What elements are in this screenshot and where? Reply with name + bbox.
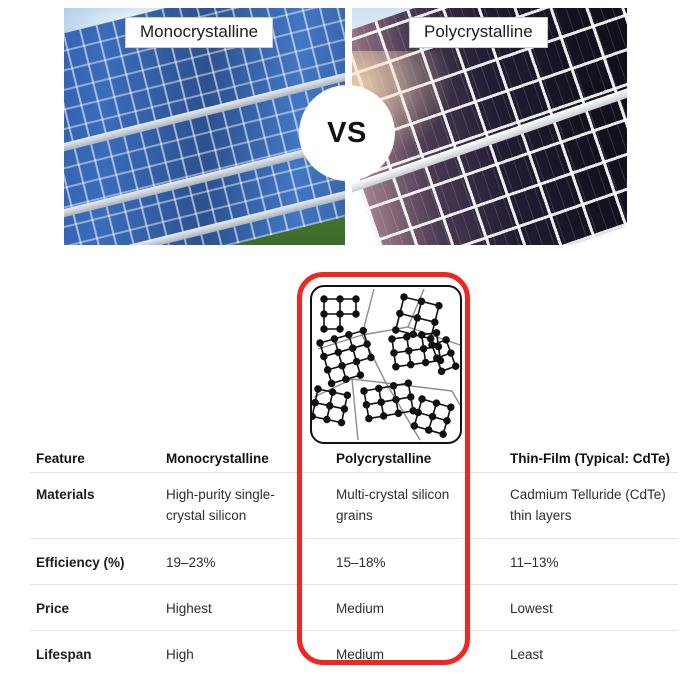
row-divider [30,630,678,631]
cell-feature: Efficiency (%) [36,552,162,573]
cell-monocrystalline: 19–23% [166,552,296,573]
monocrystalline-caption: Monocrystalline [125,17,273,48]
column-header-feature: Feature [36,448,162,469]
cell-feature: Price [36,598,162,619]
cell-feature: Lifespan [36,644,162,665]
column-header-thin-film: Thin-Film (Typical: CdTe) [510,448,686,469]
cell-polycrystalline: Medium [336,644,466,665]
comparison-hero: Monocrystalline Polycrystalline VS [0,0,692,250]
row-divider [30,538,678,539]
cell-thin-film: Least [510,644,686,665]
column-header-monocrystalline: Monocrystalline [166,448,296,469]
cell-thin-film: 11–13% [510,552,686,573]
row-divider [30,472,678,473]
cell-polycrystalline: Medium [336,598,466,619]
cell-feature: Materials [36,484,162,505]
cell-monocrystalline: High-purity single-crystal silicon [166,484,296,526]
cell-thin-film: Cadmium Telluride (CdTe) thin layers [510,484,686,526]
polycrystalline-grain-diagram [310,285,462,444]
cell-thin-film: Lowest [510,598,686,619]
cell-polycrystalline: 15–18% [336,552,466,573]
row-divider [30,584,678,585]
grain-structure-svg [312,287,460,442]
column-header-polycrystalline: Polycrystalline [336,448,466,469]
cell-monocrystalline: Highest [166,598,296,619]
vs-badge: VS [300,86,394,180]
lattice-grains [312,293,460,438]
cell-polycrystalline: Multi-crystal silicon grains [336,484,466,526]
polycrystalline-caption: Polycrystalline [409,17,548,48]
cell-monocrystalline: High [166,644,296,665]
